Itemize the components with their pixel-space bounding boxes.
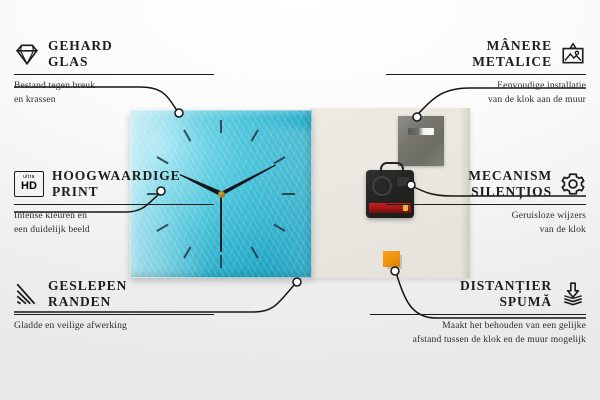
callout-desc-line2: en krassen bbox=[14, 94, 56, 105]
callout-rule bbox=[14, 314, 214, 316]
callout-rule bbox=[14, 204, 214, 206]
callout-rule bbox=[386, 204, 586, 206]
ground-edges-icon bbox=[14, 281, 40, 307]
callout-title-line1: MÂNERE bbox=[487, 38, 552, 53]
callout-desc-line2: van de klok aan de muur bbox=[488, 94, 586, 105]
metal-hanger-plate bbox=[398, 116, 444, 166]
callout-desc-line2: een duidelijk beeld bbox=[14, 224, 90, 235]
callout-gehard-glas[interactable]: GEHARD GLAS Bestand tegen breuk en krass… bbox=[14, 38, 214, 106]
callout-desc-line1: Geruisloze wijzers bbox=[512, 210, 586, 221]
orange-foam-spacer bbox=[383, 251, 400, 267]
callout-title-line1: HOOGWAARDIGE bbox=[52, 168, 181, 183]
callout-geslepen-randen[interactable]: GESLEPEN RANDEN Gladde en veilige afwerk… bbox=[14, 278, 214, 333]
callout-mecanism-silentios[interactable]: MECANISM SILENȚIOS Geruisloze wijzers va… bbox=[386, 168, 586, 236]
foam-spacer-icon bbox=[560, 281, 586, 307]
callout-desc-line1: Intense kleuren en bbox=[14, 210, 87, 221]
callout-title-line1: MECANISM bbox=[468, 168, 552, 183]
gear-icon bbox=[560, 171, 586, 197]
diamond-icon bbox=[14, 41, 40, 67]
callout-rule bbox=[386, 74, 586, 76]
callout-title-line2: RANDEN bbox=[48, 294, 111, 309]
callout-title-line2: SPUMĂ bbox=[500, 294, 553, 309]
callout-distantier-spuma[interactable]: DISTANȚIER SPUMĂ Maakt het behouden van … bbox=[370, 278, 586, 346]
callout-title-line2: PRINT bbox=[52, 184, 99, 199]
callout-desc-line2: afstand tussen de klok en de muur mogeli… bbox=[413, 334, 586, 345]
callout-title-line2: SILENȚIOS bbox=[471, 184, 552, 199]
callout-manere-metalice[interactable]: MÂNERE METALICE Eenvoudige installatie v… bbox=[386, 38, 586, 106]
ultra-hd-icon-large-text: HD bbox=[21, 181, 37, 192]
callout-title-line1: GEHARD bbox=[48, 38, 113, 53]
callout-rule bbox=[370, 314, 586, 316]
callout-desc-line1: Bestand tegen breuk bbox=[14, 80, 95, 91]
callout-desc-line1: Maakt het behouden van een gelijke bbox=[442, 320, 586, 331]
infographic-stage: GEHARD GLAS Bestand tegen breuk en krass… bbox=[0, 0, 600, 400]
picture-hanger-icon bbox=[560, 41, 586, 67]
callout-title-line2: GLAS bbox=[48, 54, 88, 69]
callout-title-line1: DISTANȚIER bbox=[460, 278, 552, 293]
callout-desc-line2: van de klok bbox=[540, 224, 586, 235]
callout-desc-line1: Eenvoudige installatie bbox=[497, 80, 586, 91]
callout-rule bbox=[14, 74, 214, 76]
callout-title-line1: GESLEPEN bbox=[48, 278, 127, 293]
callout-title-line2: METALICE bbox=[472, 54, 552, 69]
hanger-slot bbox=[408, 128, 434, 135]
callout-desc-line1: Gladde en veilige afwerking bbox=[14, 320, 127, 331]
callout-hoogwaardige-print[interactable]: ultra HD HOOGWAARDIGE PRINT Intense kleu… bbox=[14, 168, 214, 236]
ultra-hd-icon: ultra HD bbox=[14, 171, 44, 197]
